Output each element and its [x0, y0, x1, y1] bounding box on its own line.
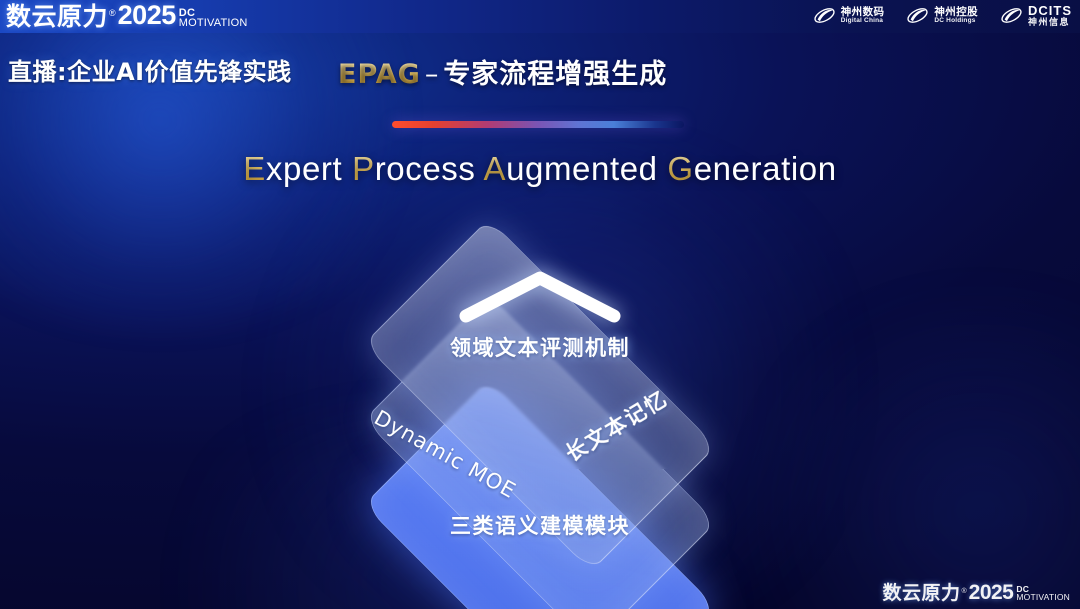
swoosh-icon: [906, 4, 929, 27]
partner-label: 神州控股 DC Holdings: [934, 7, 978, 25]
brand-dc-line2: MOTIVATION: [179, 18, 248, 28]
footer-watermark: 数云原力 ® 2025 DC MOTIVATION: [882, 582, 1070, 603]
word-rest: eneration: [694, 150, 837, 187]
brand-name-cn: 数云原力: [6, 4, 108, 29]
brand-dc-motivation: DC MOTIVATION: [179, 8, 248, 28]
partner-name-en: Digital China: [841, 18, 885, 25]
brand-logo: 数云原力 ® 2025 DC MOTIVATION: [6, 2, 248, 29]
english-word-process: Process: [352, 150, 475, 187]
word-rest: xpert: [266, 150, 342, 187]
title-dash: –: [421, 59, 444, 90]
partner-name-en: DC Holdings: [934, 18, 978, 25]
partner-name-cn: DCITS: [1028, 4, 1072, 18]
word-capital: E: [243, 150, 266, 187]
watermark-year: 2025: [969, 582, 1014, 603]
layer-label-bottom: 三类语义建模模块: [0, 510, 1080, 540]
partner-logo-dc-holdings: 神州控股 DC Holdings: [906, 4, 978, 27]
chevron-up-icon: [458, 268, 622, 324]
partner-label: DCITS 神州信息: [1028, 4, 1072, 27]
partner-name-cn: 神州控股: [934, 7, 978, 18]
word-rest: ugmented: [506, 150, 658, 187]
english-word-augmented: Augmented: [483, 150, 657, 187]
title-chinese: 专家流程增强生成: [443, 59, 667, 90]
word-rest: rocess: [375, 150, 476, 187]
english-word-generation: Generation: [667, 150, 836, 187]
layer-label-top: 领域文本评测机制: [0, 332, 1080, 362]
swoosh-icon: [1000, 4, 1023, 27]
brand-registered-mark: ®: [109, 9, 116, 18]
english-word-expert: Expert: [243, 150, 342, 187]
partner-label: 神州数码 Digital China: [841, 7, 885, 25]
watermark-name-cn: 数云原力: [882, 584, 960, 603]
watermark-dc-motivation: DC MOTIVATION: [1016, 586, 1070, 602]
partner-name-cn: 神州数码: [841, 7, 885, 18]
brand-year: 2025: [118, 2, 176, 29]
word-capital: G: [667, 150, 693, 187]
watermark-registered-mark: ®: [961, 588, 966, 595]
slide-canvas: 数云原力 ® 2025 DC MOTIVATION 神州数码 Digital C…: [0, 0, 1080, 609]
layered-diagram: 领域文本评测机制 Dynamic MOE 长文本记忆 三类语义建模模块: [0, 0, 1080, 609]
gradient-divider: [392, 121, 684, 128]
partner-logo-dcits: DCITS 神州信息: [1000, 4, 1072, 27]
watermark-dc-line2: MOTIVATION: [1016, 594, 1070, 602]
page-title: EPAG–专家流程增强生成: [338, 52, 667, 91]
title-acronym: EPAG: [338, 59, 421, 90]
english-subtitle: Expert Process Augmented Generation: [0, 150, 1080, 188]
partner-logo-digital-china: 神州数码 Digital China: [813, 4, 885, 27]
word-capital: P: [352, 150, 375, 187]
partner-logo-group: 神州数码 Digital China 神州控股 DC Holdings DCIT…: [813, 4, 1072, 27]
partner-name-en: 神州信息: [1028, 18, 1072, 27]
word-capital: A: [483, 150, 506, 187]
live-stream-title: 直播:企业AI价值先锋实践: [8, 52, 292, 87]
swoosh-icon: [813, 4, 836, 27]
